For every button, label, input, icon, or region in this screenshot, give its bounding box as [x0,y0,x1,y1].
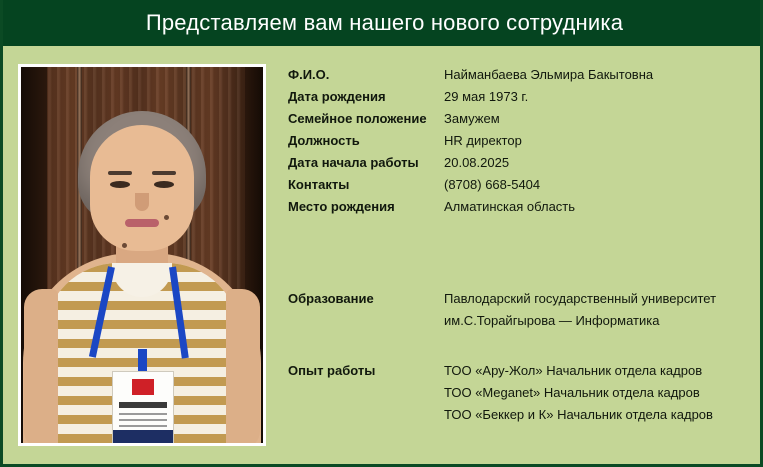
detail-label: Ф.И.О. [288,64,444,86]
badge-footer [113,430,173,443]
mole [164,215,169,220]
nose [135,193,149,211]
badge-text-lines [119,413,167,429]
right-arm [226,289,260,443]
experience-section: Опыт работы ТОО «Ару-Жол» Начальник отде… [288,360,758,426]
detail-value: Найманбаева Эльмира Бакытовна [444,64,653,86]
detail-row-birth-place: Место рождения Алматинская область [288,196,758,218]
detail-row-fio: Ф.И.О. Найманбаева Эльмира Бакытовна [288,64,758,86]
employee-photo-frame [18,64,266,446]
education-line: Павлодарский государственный университет [444,288,716,310]
experience-line: ТОО «Беккер и К» Начальник отдела кадров [444,404,713,426]
left-arm [24,289,58,443]
detail-label: Дата начала работы [288,152,444,174]
employee-photo [21,67,263,443]
detail-row-marital-status: Семейное положение Замужем [288,108,758,130]
detail-value: Алматинская область [444,196,575,218]
left-eyebrow [108,171,132,175]
person-figure [21,67,263,443]
right-eye [154,181,174,188]
detail-label: Место рождения [288,196,444,218]
experience-label: Опыт работы [288,360,444,382]
id-badge [112,371,174,443]
education-line: им.С.Торайгырова — Информатика [444,310,716,332]
detail-label: Семейное положение [288,108,444,130]
detail-value: HR директор [444,130,522,152]
detail-label: Дата рождения [288,86,444,108]
experience-line: ТОО «Meganet» Начальник отдела кадров [444,382,713,404]
detail-row-position: Должность HR директор [288,130,758,152]
experience-values: ТОО «Ару-Жол» Начальник отдела кадров ТО… [444,360,713,426]
detail-row-contacts: Контакты (8708) 668-5404 [288,174,758,196]
detail-value: 29 мая 1973 г. [444,86,528,108]
face [90,125,194,251]
detail-row-birth-date: Дата рождения 29 мая 1973 г. [288,86,758,108]
page-title: Представляем вам нашего нового сотрудник… [146,10,623,36]
mouth [125,219,159,227]
right-eyebrow [152,171,176,175]
detail-value: (8708) 668-5404 [444,174,540,196]
detail-row-start-date: Дата начала работы 20.08.2025 [288,152,758,174]
left-eye [110,181,130,188]
mole [122,243,127,248]
badge-logo-icon [132,379,154,395]
detail-label: Должность [288,130,444,152]
employee-details: Ф.И.О. Найманбаева Эльмира Бакытовна Дат… [288,64,758,426]
badge-name-bar [119,402,167,408]
education-values: Павлодарский государственный университет… [444,288,716,332]
detail-value: Замужем [444,108,500,130]
education-section: Образование Павлодарский государственный… [288,288,758,332]
detail-label: Контакты [288,174,444,196]
employee-intro-slide: Представляем вам нашего нового сотрудник… [0,0,763,467]
lanyard-clip [138,349,147,373]
experience-line: ТОО «Ару-Жол» Начальник отдела кадров [444,360,713,382]
header-banner: Представляем вам нашего нового сотрудник… [3,0,763,46]
education-label: Образование [288,288,444,310]
detail-value: 20.08.2025 [444,152,509,174]
